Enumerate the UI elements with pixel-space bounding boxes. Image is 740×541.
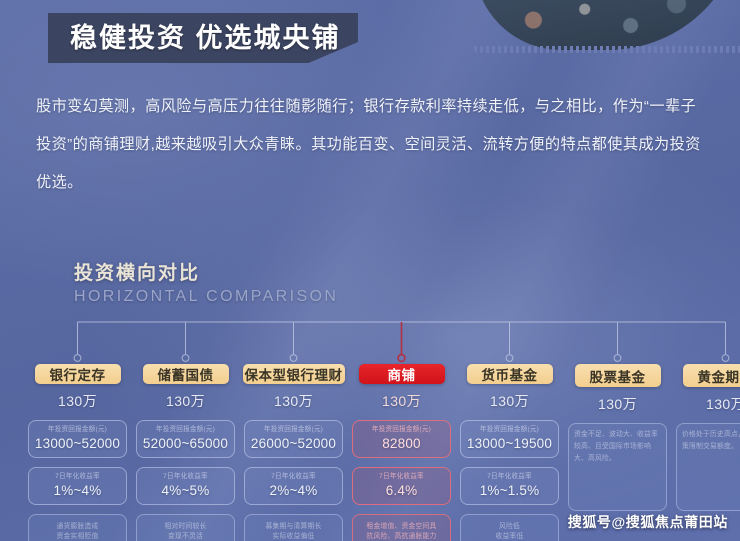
metric-value: 13000~19500 bbox=[464, 435, 555, 452]
principal-amount: 130万 bbox=[274, 391, 313, 411]
metric-label: 7日年化收益率 bbox=[140, 472, 231, 481]
metric-box: 年投资回报金额(元)26000~52000 bbox=[244, 420, 343, 458]
metric-value: 26000~52000 bbox=[248, 435, 339, 452]
metric-box: 7日年化收益率2%~4% bbox=[244, 467, 343, 505]
product-chip[interactable]: 储蓄国债 bbox=[143, 364, 229, 384]
metric-value: 6.4% bbox=[356, 482, 447, 499]
note-box: 通货膨胀造成 资金实相贬值 bbox=[28, 514, 127, 541]
header-banner: 稳健投资 优选城央铺 bbox=[48, 13, 358, 63]
product-chip[interactable]: 黄金期货 bbox=[683, 364, 740, 387]
watermark: 搜狐号@搜狐焦点莆田站 bbox=[568, 512, 728, 532]
metric-value: 1%~1.5% bbox=[464, 482, 555, 499]
metric-box: 7日年化收益率1%~4% bbox=[28, 467, 127, 505]
comparison-column: 储蓄国债130万年投资回报金额(元)52000~650007日年化收益率4%~5… bbox=[136, 364, 235, 534]
comparison-columns: 银行定存130万年投资回报金额(元)13000~520007日年化收益率1%~4… bbox=[0, 364, 740, 534]
product-chip[interactable]: 银行定存 bbox=[35, 364, 121, 384]
comparison-column: 股票基金130万资金不足、波动大、收益率较高、且受国际市场影响大、高风险。 bbox=[568, 364, 667, 534]
section-title-en: HORIZONTAL COMPARISON bbox=[74, 288, 338, 306]
product-chip[interactable]: 股票基金 bbox=[575, 364, 661, 387]
metric-value: 52000~65000 bbox=[140, 435, 231, 452]
product-chip[interactable]: 商铺 bbox=[359, 364, 445, 384]
metric-box: 7日年化收益率1%~1.5% bbox=[460, 467, 559, 505]
note-box: 风险低 收益率低 bbox=[460, 514, 559, 541]
metric-label: 年投资回报金额(元) bbox=[464, 425, 555, 434]
note-text: 相对时间较长 变现不灵活 bbox=[165, 522, 207, 541]
principal-amount: 130万 bbox=[382, 391, 421, 411]
metric-label: 7日年化收益率 bbox=[464, 472, 555, 481]
principal-amount: 130万 bbox=[706, 394, 740, 414]
metric-value: 1%~4% bbox=[32, 482, 123, 499]
metric-label: 年投资回报金额(元) bbox=[248, 425, 339, 434]
note-box: 相对时间较长 变现不灵活 bbox=[136, 514, 235, 541]
section-heading: 投资横向对比 HORIZONTAL COMPARISON bbox=[74, 258, 338, 306]
note-text: 价格处于历史高点，出台政策限制交易额度。 bbox=[682, 429, 740, 453]
metric-label: 年投资回报金额(元) bbox=[140, 425, 231, 434]
metric-box: 年投资回报金额(元)13000~52000 bbox=[28, 420, 127, 458]
note-box: 租金增值、资金空间具 抗风险、高抗通胀能力 bbox=[352, 514, 451, 541]
metric-box: 年投资回报金额(元)82800 bbox=[352, 420, 451, 458]
note-box: 募集期与清算期长 实际收益偏低 bbox=[244, 514, 343, 541]
metric-value: 82800 bbox=[356, 435, 447, 452]
metric-label: 7日年化收益率 bbox=[248, 472, 339, 481]
principal-amount: 130万 bbox=[58, 391, 97, 411]
product-chip[interactable]: 货币基金 bbox=[467, 364, 553, 384]
comparison-column: 黄金期货130万价格处于历史高点，出台政策限制交易额度。 bbox=[676, 364, 740, 534]
note-box: 资金不足、波动大、收益率较高、且受国际市场影响大、高风险。 bbox=[568, 423, 667, 511]
metric-box: 年投资回报金额(元)13000~19500 bbox=[460, 420, 559, 458]
metric-label: 年投资回报金额(元) bbox=[32, 425, 123, 434]
comparison-column: 保本型银行理财130万年投资回报金额(元)26000~520007日年化收益率2… bbox=[244, 364, 343, 534]
metric-value: 2%~4% bbox=[248, 482, 339, 499]
metric-label: 年投资回报金额(元) bbox=[356, 425, 447, 434]
principal-amount: 130万 bbox=[598, 394, 637, 414]
section-title-cn: 投资横向对比 bbox=[74, 258, 338, 285]
metric-label: 7日年化收益率 bbox=[356, 472, 447, 481]
intro-paragraph: 股市变幻莫测，高风险与高压力往往随影随行；银行存款利率持续走低，与之相比，作为“… bbox=[36, 88, 708, 202]
metric-value: 4%~5% bbox=[140, 482, 231, 499]
aerial-photo-fragment bbox=[474, 0, 740, 50]
product-chip[interactable]: 保本型银行理财 bbox=[243, 364, 345, 384]
metric-label: 7日年化收益率 bbox=[32, 472, 123, 481]
comparison-column: 商铺130万年投资回报金额(元)828007日年化收益率6.4%租金增值、资金空… bbox=[352, 364, 451, 534]
note-text: 风险低 收益率低 bbox=[496, 522, 524, 541]
page-root: 稳健投资 优选城央铺 股市变幻莫测，高风险与高压力往往随影随行；银行存款利率持续… bbox=[0, 0, 740, 541]
principal-amount: 130万 bbox=[490, 391, 529, 411]
comparison-column: 货币基金130万年投资回报金额(元)13000~195007日年化收益率1%~1… bbox=[460, 364, 559, 534]
principal-amount: 130万 bbox=[166, 391, 205, 411]
metric-box: 年投资回报金额(元)52000~65000 bbox=[136, 420, 235, 458]
metric-value: 13000~52000 bbox=[32, 435, 123, 452]
note-text: 募集期与清算期长 实际收益偏低 bbox=[266, 522, 322, 541]
metric-box: 7日年化收益率4%~5% bbox=[136, 467, 235, 505]
page-title: 稳健投资 优选城央铺 bbox=[48, 25, 341, 52]
note-text: 资金不足、波动大、收益率较高、且受国际市场影响大、高风险。 bbox=[574, 429, 661, 465]
connector-rail bbox=[0, 318, 740, 366]
comparison-column: 银行定存130万年投资回报金额(元)13000~520007日年化收益率1%~4… bbox=[28, 364, 127, 534]
note-text: 租金增值、资金空间具 抗风险、高抗通胀能力 bbox=[367, 522, 437, 541]
note-text: 通货膨胀造成 资金实相贬值 bbox=[57, 522, 99, 541]
metric-box: 7日年化收益率6.4% bbox=[352, 467, 451, 505]
note-box: 价格处于历史高点，出台政策限制交易额度。 bbox=[676, 423, 740, 511]
